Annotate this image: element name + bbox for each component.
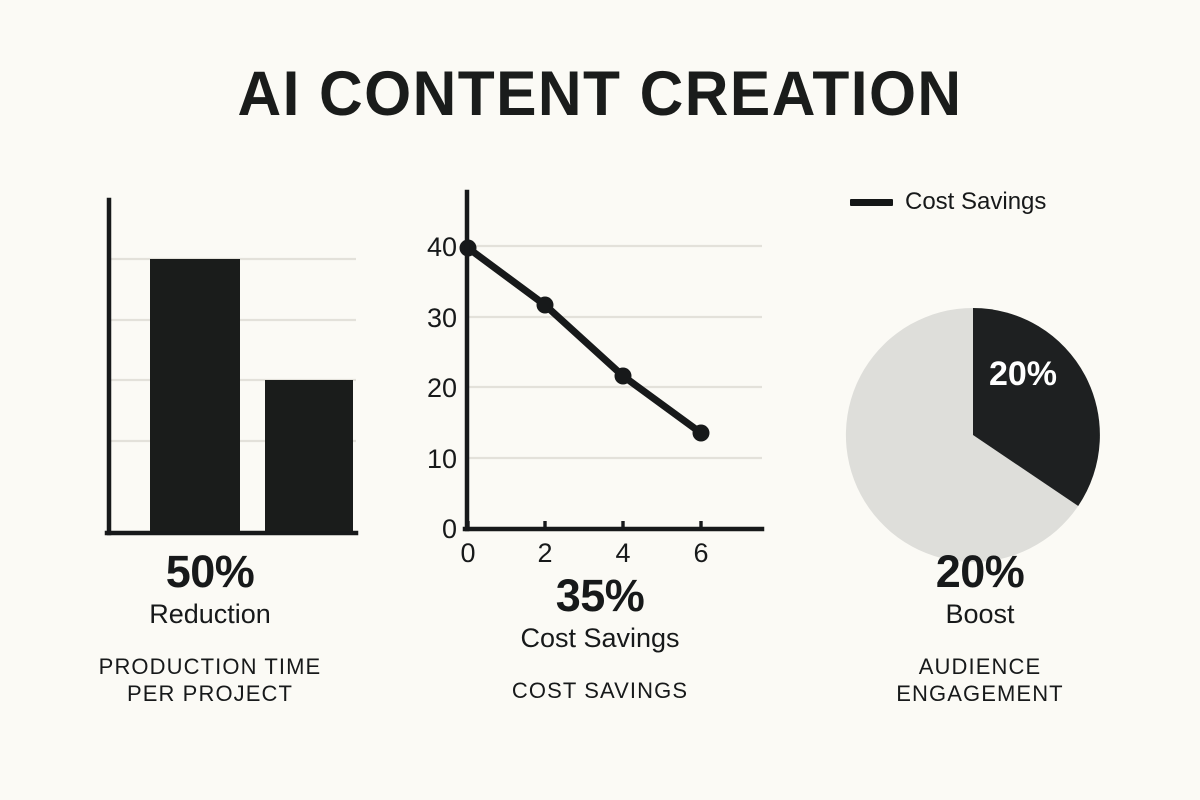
stat-sublabel-production-time: Reduction [20,598,400,630]
bar-chart-plot-area [20,180,400,550]
bar-chart [20,180,400,550]
category-label-line-1: AUDIENCE [790,653,1170,680]
line-chart-ytick-labels: 40 30 20 10 0 [427,232,457,544]
caption-cost-savings: 35% Cost Savings COST SAVINGS [410,572,790,704]
stat-value-production-time: 50% [20,548,400,595]
stat-sublabel-cost-savings: Cost Savings [410,622,790,654]
panel-production-time: 50% Reduction PRODUCTION TIME PER PROJEC… [20,180,400,740]
infographic-canvas: AI CONTENT CREATION [0,0,1200,800]
bar-item-1 [265,380,353,533]
stat-sublabel-audience-engagement: Boost [790,598,1170,630]
line-marker-point-1 [537,297,554,314]
panel-cost-savings: 40 30 20 10 0 [410,180,790,740]
pie-chart-plot-area: 20% [790,180,1170,550]
line-series-cost-savings [468,248,701,433]
caption-audience-engagement: 20% Boost AUDIENCE ENGAGEMENT [790,548,1170,707]
category-label-cost-savings: COST SAVINGS [410,677,790,704]
category-label-production-time: PRODUCTION TIME PER PROJECT [20,653,400,707]
category-label-line-2: PER PROJECT [20,680,400,707]
xtick-label-6: 6 [693,538,708,568]
ytick-label-40: 40 [427,232,457,262]
ytick-label-30: 30 [427,303,457,333]
line-marker-point-3 [693,425,710,442]
ytick-label-10: 10 [427,444,457,474]
line-chart: 40 30 20 10 0 [410,180,790,575]
ytick-label-20: 20 [427,373,457,403]
ytick-label-0: 0 [442,514,457,544]
category-label-line-1: PRODUCTION TIME [20,653,400,680]
page-title: AI CONTENT CREATION [24,58,1176,130]
pie-slice-value-label: 20% [989,355,1057,393]
line-marker-point-2 [615,368,632,385]
line-chart-xtick-labels: 0 2 4 6 [460,538,708,568]
xtick-label-4: 4 [615,538,630,568]
category-label-line-2: ENGAGEMENT [790,680,1170,707]
stat-value-audience-engagement: 20% [790,548,1170,595]
panel-audience-engagement: Cost Savings 20% 20% Boost AUDIENCE ENGA… [790,180,1170,740]
line-chart-axes [465,192,762,529]
bar-item-0 [150,259,240,533]
category-label-line-1: COST SAVINGS [410,677,790,704]
xtick-label-2: 2 [537,538,552,568]
stat-value-cost-savings: 35% [410,572,790,619]
bar-chart-bars [150,259,353,533]
line-chart-plot-area: 40 30 20 10 0 [410,180,790,550]
category-label-audience-engagement: AUDIENCE ENGAGEMENT [790,653,1170,707]
xtick-label-0: 0 [460,538,475,568]
caption-production-time: 50% Reduction PRODUCTION TIME PER PROJEC… [20,548,400,707]
pie-chart: 20% [790,218,1170,588]
